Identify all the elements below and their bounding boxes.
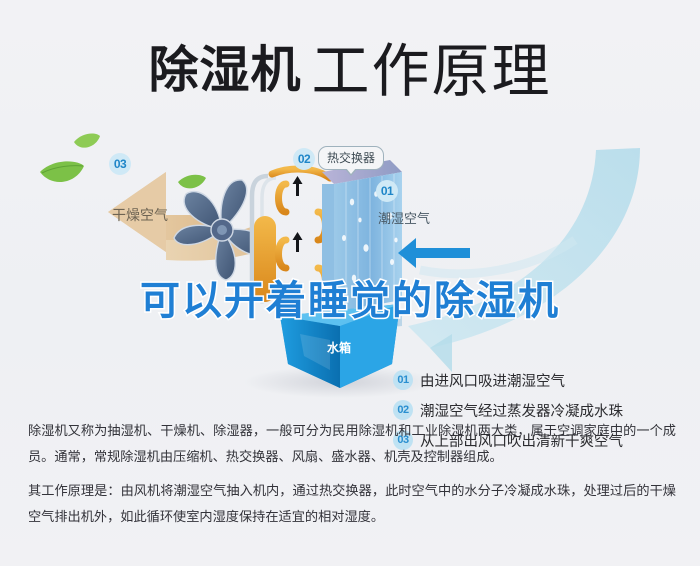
label-water-tank: 水箱 [327,339,351,356]
page-title-part2: 工作原理 [311,39,551,104]
badge-heat-exchanger: 02 [293,148,315,170]
body-paragraph-2: 其工作原理是：由风机将潮湿空气抽入机内，通过热交换器，此时空气中的水分子冷凝成水… [28,478,676,530]
page-title-part1: 除湿机 [148,42,301,98]
badge-humid-air: 01 [376,180,398,202]
step-number: 02 [393,400,413,420]
label-dry-air: 干燥空气 [112,205,168,225]
air-intake-arrow [398,238,470,268]
leaf-icon-1 [40,161,84,182]
page-title: 除湿机工作原理 [0,24,700,108]
step-number: 01 [393,370,413,390]
leaf-icon-3 [178,175,206,189]
infographic-page: 除湿机工作原理 [0,0,700,566]
body-paragraph-1: 除湿机又称为抽湿机、干燥机、除湿器，一般可分为民用除湿机和工业除湿机两大类，属于… [28,418,676,470]
step-text: 由进风口吸进潮湿空气 [420,370,565,391]
callout-heat-exchanger: 热交换器 [318,146,384,170]
dehumidifier-diagram: 03 干燥空气 02 热交换器 01 潮湿空气 水箱 01 由进风口吸进潮湿空气… [0,120,700,410]
badge-dry-air: 03 [109,153,131,175]
leaf-icon-2 [74,134,100,148]
label-humid-air: 潮湿空气 [378,208,430,227]
compressor-cylinder [254,216,276,302]
step-item: 01 由进风口吸进潮湿空气 [393,365,683,395]
